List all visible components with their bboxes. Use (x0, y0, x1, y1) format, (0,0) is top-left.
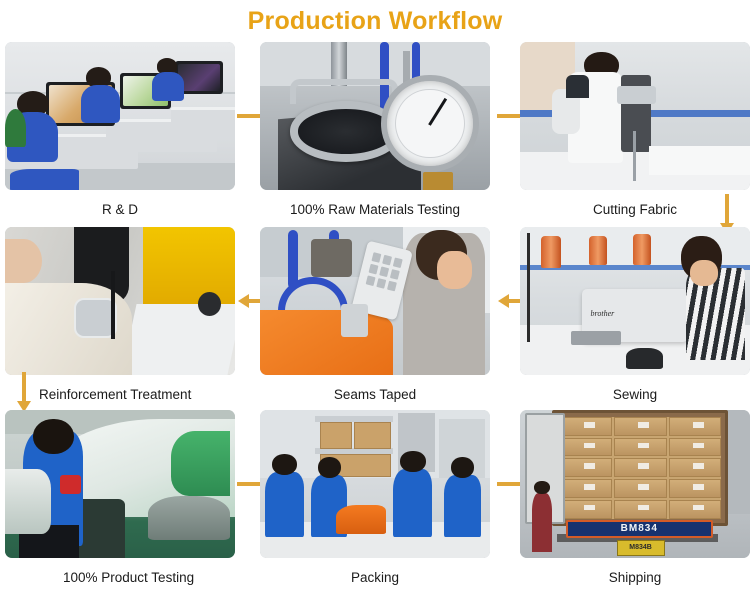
truck-plate-small-text: M834B (629, 544, 652, 551)
step-7-caption: 100% Product Testing (5, 562, 235, 592)
step-4-caption: Reinforcement Treatment (5, 379, 235, 409)
page-title: Production Workflow (0, 0, 750, 42)
arrow-step-4-to-7 (17, 372, 31, 412)
step-9-photo: BM834 M834B (520, 410, 750, 558)
step-7-photo (5, 410, 235, 558)
step-9-caption: Shipping (520, 562, 750, 592)
step-2-caption: 100% Raw Materials Testing (260, 194, 490, 224)
step-6-photo: brother (520, 227, 750, 375)
step-1-caption: R & D (5, 194, 235, 224)
sewing-machine-brand-text: brother (591, 309, 615, 318)
step-5-photo (260, 227, 490, 375)
step-3-caption: Cutting Fabric (520, 194, 750, 224)
truck-plate-text: BM834 (621, 523, 658, 534)
step-5-caption: Seams Taped (260, 379, 490, 409)
step-2-photo (260, 42, 490, 190)
step-8-caption: Packing (260, 562, 490, 592)
step-6-caption: Sewing (520, 379, 750, 409)
step-1-photo (5, 42, 235, 190)
step-3-photo (520, 42, 750, 190)
step-4-photo (5, 227, 235, 375)
workflow-grid: R & D (0, 42, 750, 595)
production-workflow-infographic: Production Workflow (0, 0, 750, 595)
step-8-photo (260, 410, 490, 558)
